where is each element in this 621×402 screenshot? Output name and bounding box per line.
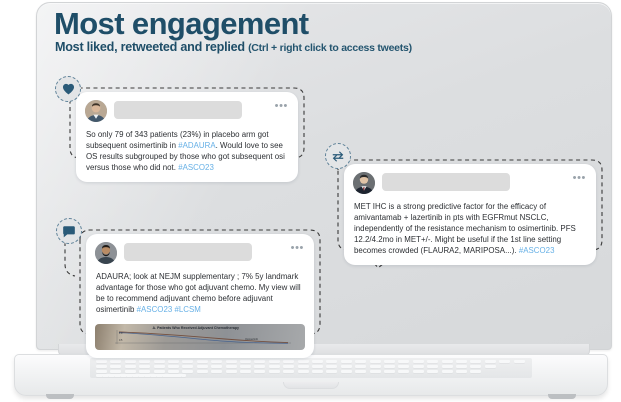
avatar xyxy=(95,242,117,264)
page-subtitle-text: Most liked, retweeted and replied xyxy=(55,40,245,54)
tweet-header: ••• xyxy=(95,242,304,266)
media-caption: A. Patients Who Received Adjuvant Chemot… xyxy=(153,326,240,330)
author-name-redacted xyxy=(382,173,510,191)
avatar xyxy=(85,100,107,122)
tweet-header: ••• xyxy=(353,172,586,196)
tweet-card-most-liked[interactable]: ••• So only 79 of 343 patients (23%) in … xyxy=(76,92,298,182)
badge-most-liked[interactable] xyxy=(55,76,81,102)
hashtag-link[interactable]: #LCSM xyxy=(174,305,200,314)
hashtag-link[interactable]: #ASCO23 xyxy=(519,246,555,255)
tweet-card-most-replied[interactable]: ••• ADAURA; look at NEJM supplementary ;… xyxy=(86,234,314,358)
tweet-menu-button[interactable]: ••• xyxy=(291,243,304,253)
laptop-trackpad-notch xyxy=(283,382,339,389)
laptop-keyboard xyxy=(90,358,532,378)
page-title: Most engagement xyxy=(54,8,309,41)
screenshot-root: Most engagement Most liked, retweeted an… xyxy=(0,0,621,402)
badge-most-replied[interactable] xyxy=(56,218,82,244)
hashtag-link[interactable]: #ASCO23 xyxy=(178,163,214,172)
tweet-menu-button[interactable]: ••• xyxy=(275,101,288,111)
badge-most-retweeted[interactable] xyxy=(325,143,351,169)
tweet-menu-button[interactable]: ••• xyxy=(573,173,586,183)
author-name-redacted xyxy=(124,243,252,261)
tweet-text: ADAURA; look at NEJM supplementary ; 7% … xyxy=(96,271,303,315)
heart-icon xyxy=(62,83,75,95)
tweet-media-chart[interactable]: Osimertinib 1.0 0.5 A. Patients Who Rece… xyxy=(95,324,305,350)
hashtag-link[interactable]: #ADAURA xyxy=(178,141,215,150)
laptop-foot-right xyxy=(548,394,576,399)
reply-connector-line xyxy=(58,242,88,282)
laptop-foot-left xyxy=(46,394,74,399)
page-subtitle-hint: (Ctrl + right click to access tweets) xyxy=(248,42,412,54)
media-series-label: Osimertinib xyxy=(245,337,259,341)
svg-text:0.5: 0.5 xyxy=(119,339,123,342)
retweet-icon xyxy=(331,150,345,163)
tweet-text: MET IHC is a strong predictive factor fo… xyxy=(354,201,585,256)
reply-icon xyxy=(62,225,76,238)
tweet-card-most-retweeted[interactable]: ••• MET IHC is a strong predictive facto… xyxy=(344,164,596,265)
hashtag-link[interactable]: #ASCO23 xyxy=(137,305,173,314)
tweet-text: So only 79 of 343 patients (23%) in plac… xyxy=(86,129,287,173)
author-name-redacted xyxy=(114,101,242,119)
tweet-header: ••• xyxy=(85,100,288,124)
page-subtitle: Most liked, retweeted and replied (Ctrl … xyxy=(55,40,412,54)
avatar xyxy=(353,172,375,194)
